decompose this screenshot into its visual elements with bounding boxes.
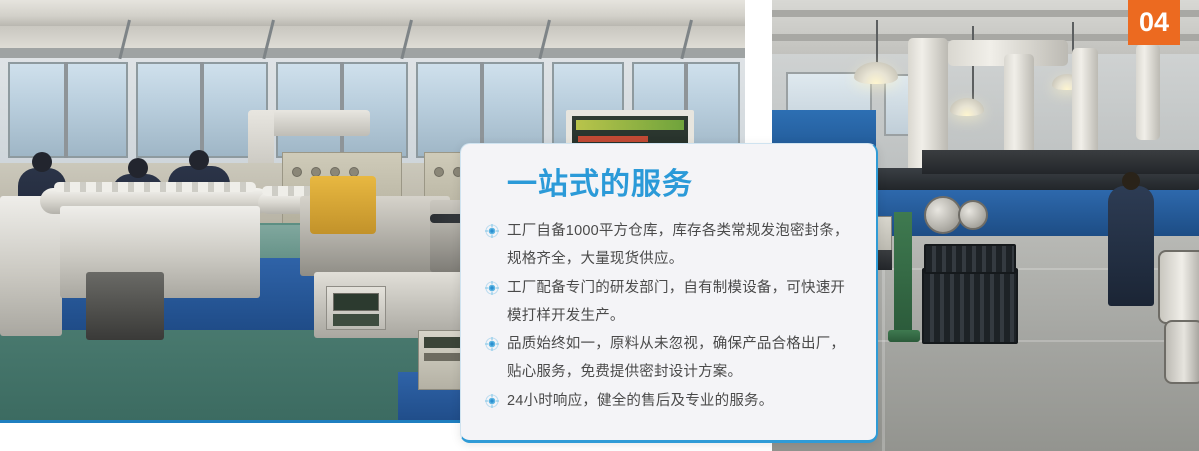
list-item-text: 工厂自备1000平方仓库，库存各类常规发泡密封条，规格齐全，大量现货供应。 [507, 223, 849, 267]
target-dot-icon [485, 281, 499, 295]
extruder-body [0, 196, 62, 336]
promo-banner: 04 一站式的服务 工厂自备1000平方仓库，库存各类常规发泡密封条，规格齐全，… [0, 0, 1199, 451]
metal-coil [1158, 250, 1199, 324]
monitor-ui-bar [576, 120, 684, 130]
list-item-text: 品质始终如一，原料从未忽视，确保产品合格出厂，贴心服务，免费提供密封设计方案。 [507, 336, 845, 380]
ceiling-lower [0, 26, 745, 48]
target-dot-icon [485, 224, 499, 238]
conveyor-hood [922, 150, 1199, 174]
worker-figure [1108, 186, 1154, 306]
extraction-duct [1072, 48, 1098, 158]
target-dot-icon [485, 394, 499, 408]
card-title: 一站式的服务 [507, 168, 852, 201]
display-panel [326, 286, 386, 330]
material-roll [958, 200, 988, 230]
window-mullion [200, 62, 204, 158]
list-item: 工厂配备专门的研发部门，自有制模设备，可快速开模打样开发生产。 [485, 274, 852, 331]
monitor-ui-alert [578, 136, 648, 142]
lamp-wire [876, 20, 878, 64]
list-item: 工厂自备1000平方仓库，库存各类常规发泡密封条，规格齐全，大量现货供应。 [485, 217, 852, 274]
yellow-guard [310, 176, 376, 234]
list-item: 24小时响应，健全的售后及专业的服务。 [485, 387, 852, 415]
lcd-screen-secondary [333, 314, 379, 326]
ceiling-upper [0, 0, 745, 26]
window-mullion [64, 62, 68, 158]
storage-crate [922, 268, 1018, 344]
material-roll [924, 196, 962, 234]
list-item-text: 工厂配备专门的研发部门，自有制模设备，可快速开模打样开发生产。 [507, 280, 845, 324]
green-post [894, 212, 912, 336]
step-number-text: 04 [1139, 9, 1169, 36]
service-bullet-list: 工厂自备1000平方仓库，库存各类常规发泡密封条，规格齐全，大量现货供应。 工厂… [485, 217, 852, 415]
storage-crate [924, 244, 1016, 274]
service-info-card: 一站式的服务 工厂自备1000平方仓库，库存各类常规发泡密封条，规格齐全，大量现… [460, 143, 878, 443]
drive-motor [86, 272, 164, 340]
pendant-lamp [950, 98, 984, 116]
ceiling-beam [0, 48, 745, 58]
lcd-screen [333, 293, 379, 311]
metal-coil [1164, 320, 1199, 384]
list-item: 品质始终如一，原料从未忽视，确保产品合格出厂，贴心服务，免费提供密封设计方案。 [485, 330, 852, 387]
window-pane [8, 62, 128, 158]
list-item-text: 24小时响应，健全的售后及专业的服务。 [507, 393, 773, 409]
target-dot-icon [485, 337, 499, 351]
extraction-duct [1136, 44, 1160, 140]
step-number-badge: 04 [1128, 0, 1180, 45]
post-base [888, 330, 920, 342]
